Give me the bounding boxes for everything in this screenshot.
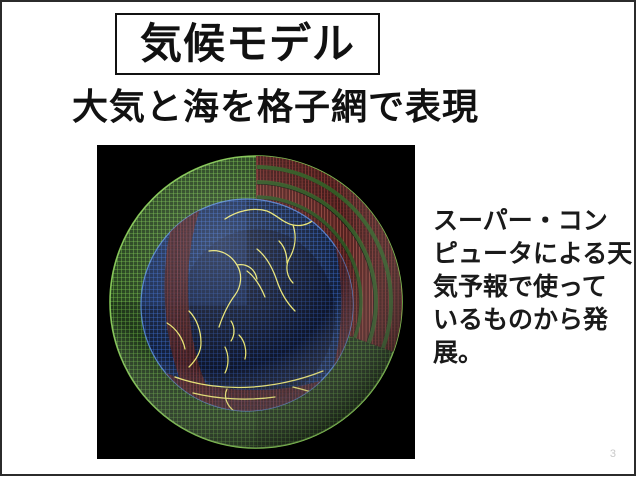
page-title: 気候モデル: [140, 23, 355, 65]
body-text: スーパー・コン ピュータによる天 気予報で使って いるものから発 展。: [433, 204, 618, 369]
body-line: ピュータによる天: [433, 237, 618, 270]
subtitle: 大気と海を格子網で表現: [72, 85, 572, 131]
page-number: 3: [610, 448, 616, 460]
climate-model-globe-figure: [97, 145, 415, 459]
body-line: いるものから発: [433, 303, 618, 336]
body-line: 展。: [433, 336, 618, 369]
globe-illustration: [97, 145, 415, 459]
slide: 気候モデル 大気と海を格子網で表現: [0, 0, 636, 476]
body-line: スーパー・コン: [433, 204, 618, 237]
title-box: 気候モデル: [115, 13, 380, 75]
body-line: 気予報で使って: [433, 270, 618, 303]
